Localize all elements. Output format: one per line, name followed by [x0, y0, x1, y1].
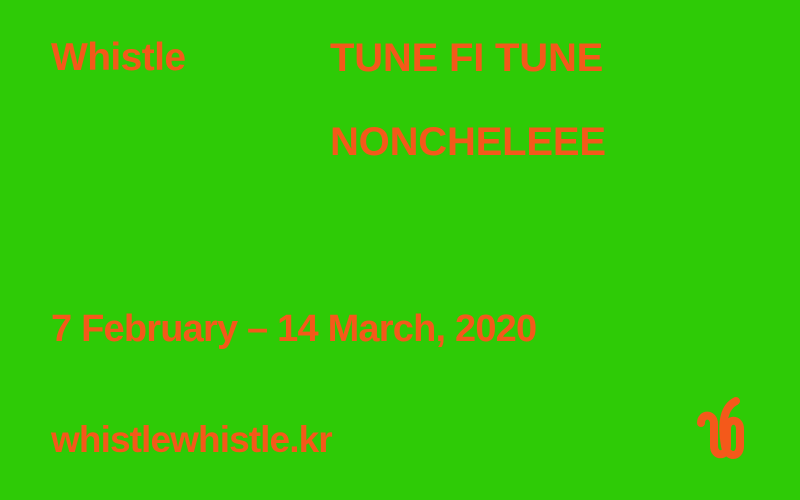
exhibition-title-line-1: TUNE FI TUNE — [330, 38, 750, 78]
whistle-w-squiggle-icon — [694, 396, 758, 462]
brand-wordmark: Whistle — [51, 38, 185, 77]
exhibition-date-range: 7 February – 14 March, 2020 — [51, 310, 536, 348]
poster-canvas: Whistle TUNE FI TUNE NONCHELEEE 7 Februa… — [0, 0, 800, 500]
exhibition-title-line-2: NONCHELEEE — [330, 122, 750, 162]
website-url[interactable]: whistlewhistle.kr — [51, 421, 332, 458]
exhibition-title-block: TUNE FI TUNE NONCHELEEE — [330, 38, 750, 162]
